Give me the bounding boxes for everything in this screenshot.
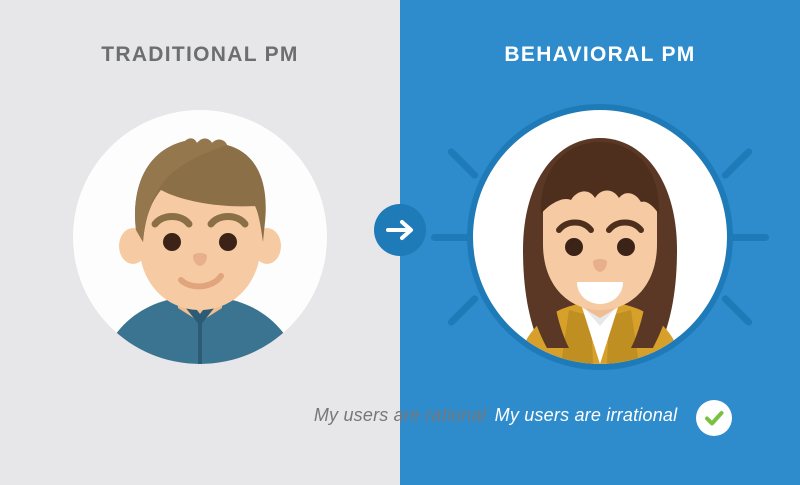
avatar-circle-background <box>73 110 327 364</box>
female-avatar-illustration <box>473 110 727 364</box>
female-avatar <box>473 110 727 364</box>
caption-behavioral: My users are irrational <box>400 405 800 426</box>
ray-right <box>729 234 769 241</box>
checkmark-glyph <box>702 406 726 430</box>
male-avatar-illustration <box>73 110 327 364</box>
page-title-behavioral: BEHAVIORAL PM <box>400 43 800 67</box>
ray-left <box>431 234 471 241</box>
male-avatar <box>73 110 327 364</box>
avatar-circle-background-ringed <box>473 110 727 364</box>
check-circle-icon <box>696 400 732 436</box>
page-title-traditional: TRADITIONAL PM <box>0 43 400 67</box>
arrow-right-badge[interactable] <box>374 204 426 256</box>
arrow-right-icon <box>385 218 415 242</box>
comparison-graphic: TRADITIONAL PM BEHAVIORAL PM <box>0 0 800 485</box>
